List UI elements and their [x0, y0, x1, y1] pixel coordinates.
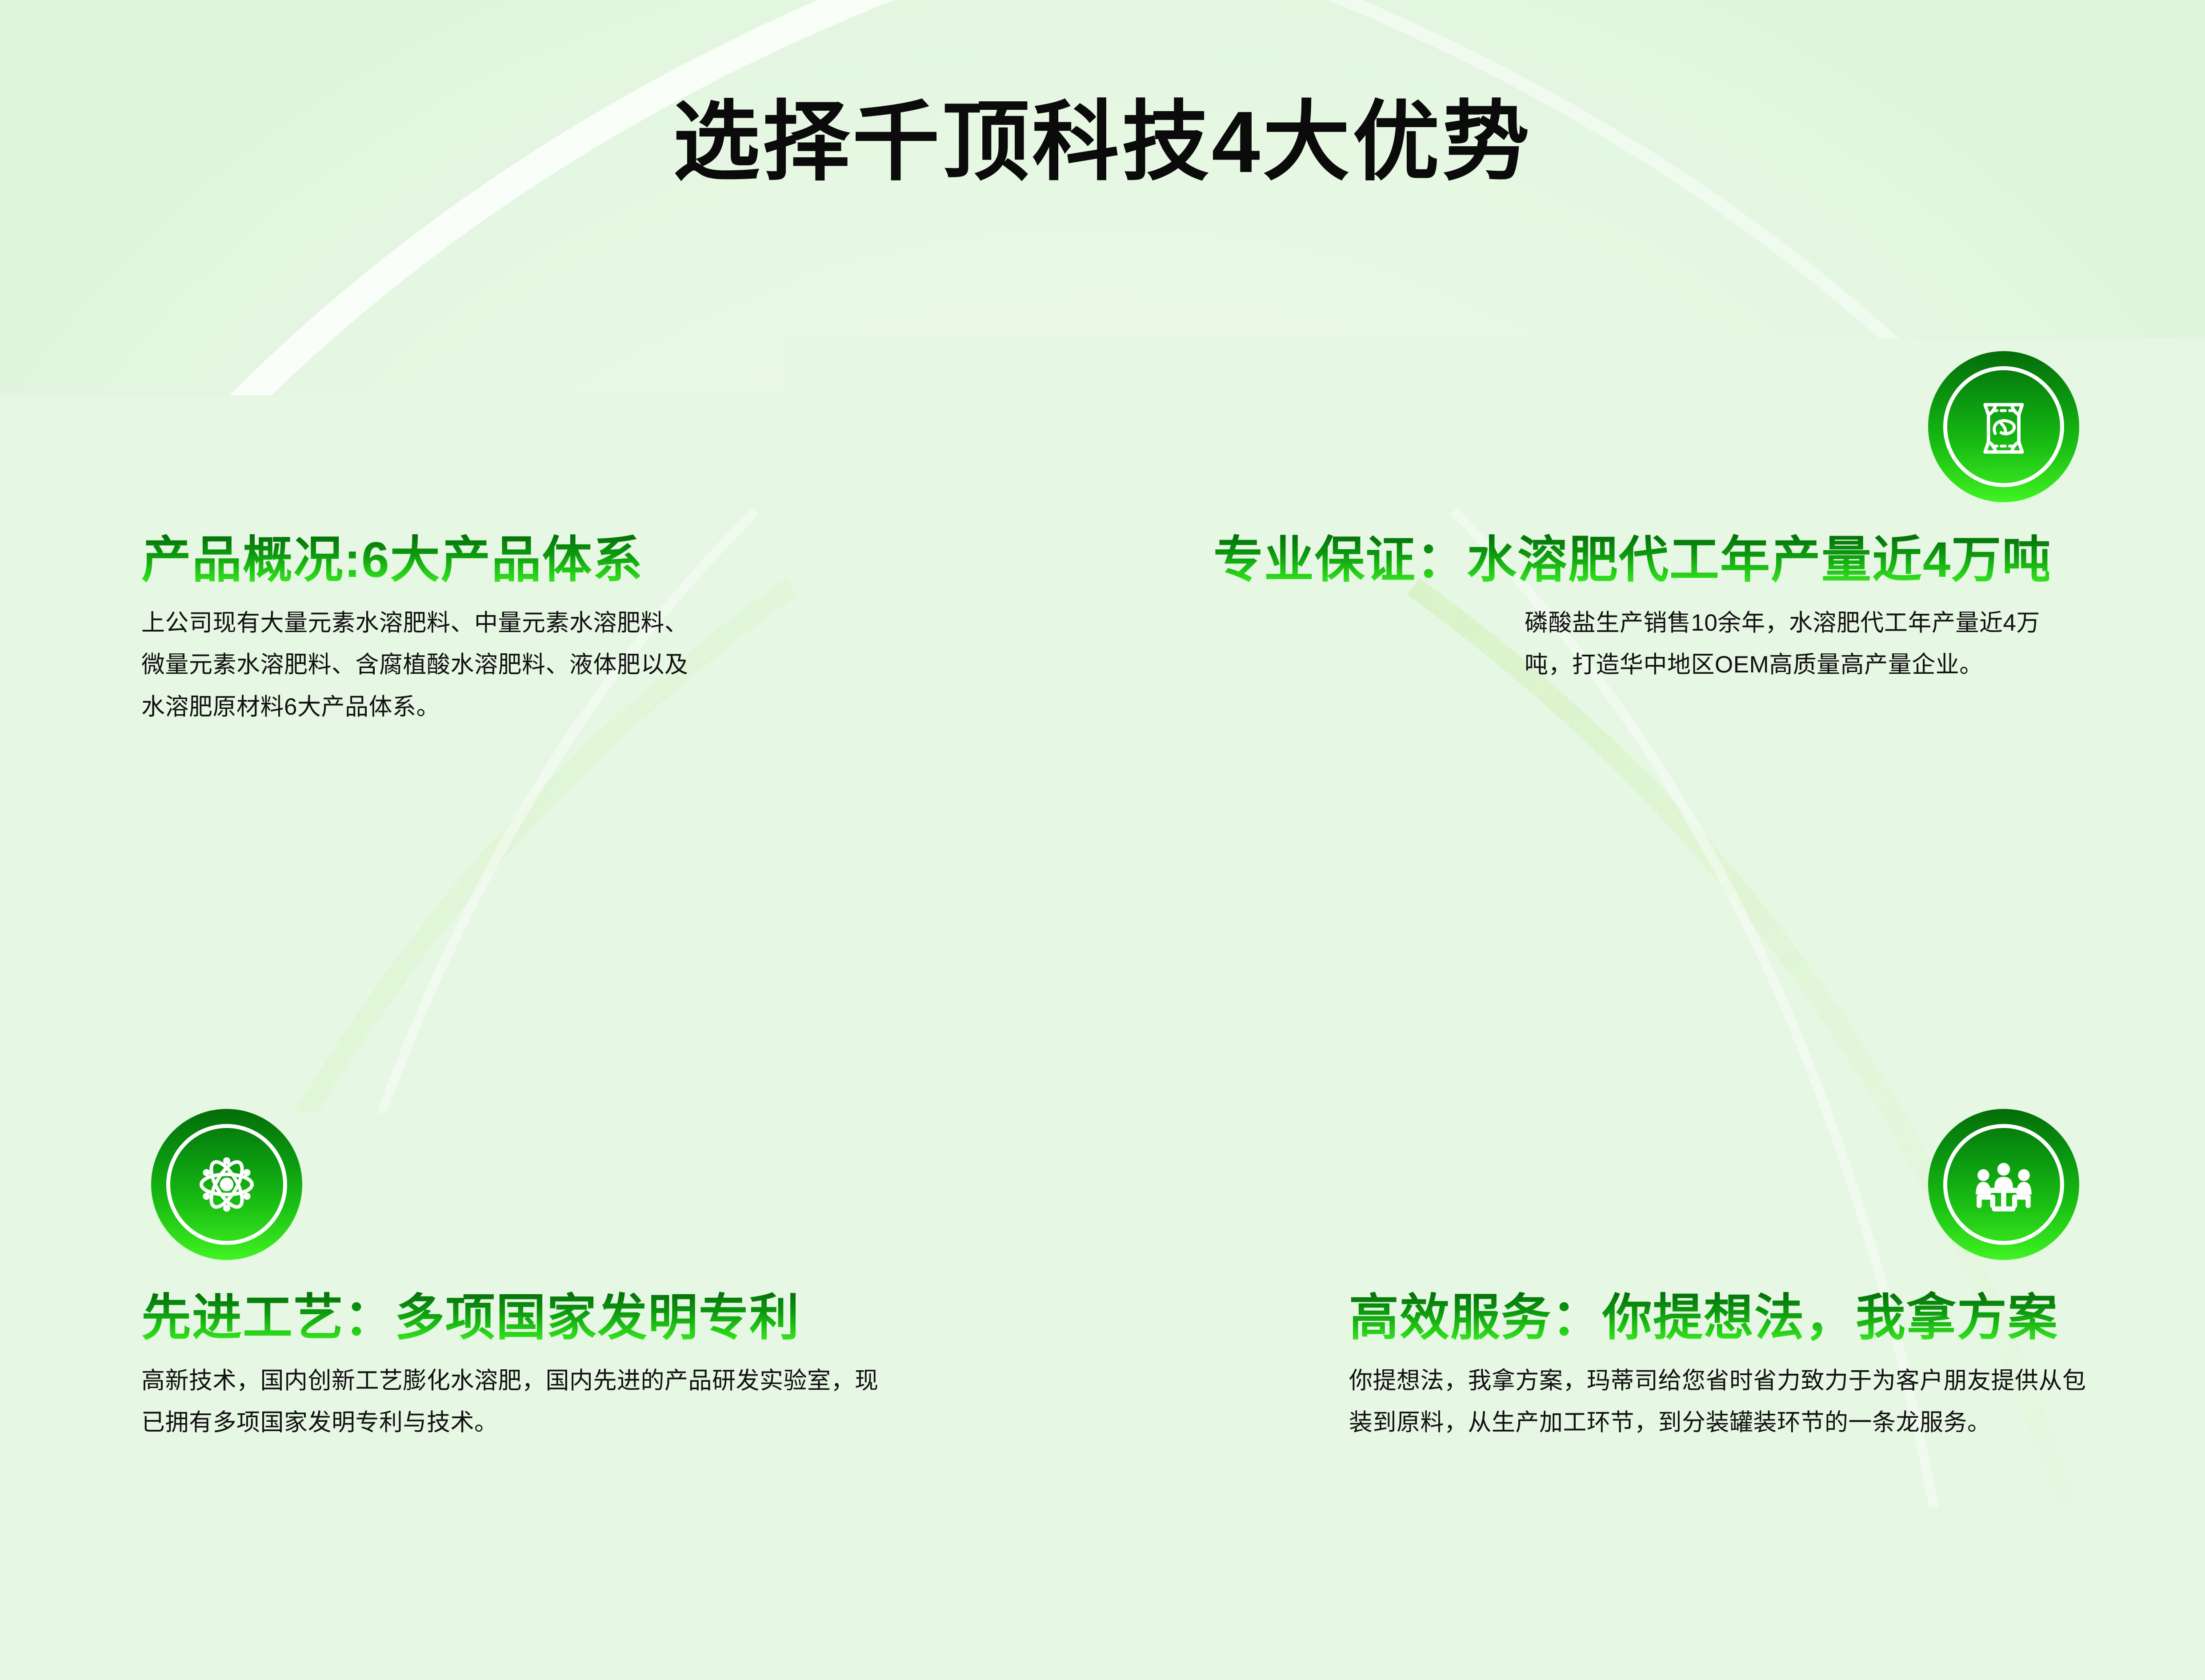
block-body: 上公司现有大量元素水溶肥料、中量元素水溶肥料、微量元素水溶肥料、含腐植酸水溶肥料… — [141, 602, 697, 728]
atom-icon — [184, 1142, 269, 1227]
icon-badge-product-overview — [151, 351, 302, 502]
block-efficient-service: 高效服务：你提想法，我拿方案 你提想法，我拿方案，玛蒂司给您省时省力致力于为客户… — [1349, 1291, 2105, 1444]
icon-badge-efficient-service — [1928, 1109, 2079, 1260]
block-product-overview: 产品概况:6大产品体系 上公司现有大量元素水溶肥料、中量元素水溶肥料、微量元素水… — [141, 533, 697, 728]
block-heading: 高效服务：你提想法，我拿方案 — [1349, 1291, 2105, 1345]
center-number-badge — [891, 630, 1318, 1057]
block-body: 你提想法，我拿方案，玛蒂司给您省时省力致力于为客户朋友提供从包装到原料，从生产加… — [1349, 1360, 2105, 1444]
block-heading: 先进工艺：多项国家发明专利 — [141, 1291, 897, 1345]
block-heading: 产品概况:6大产品体系 — [141, 533, 697, 587]
fertilizer-bag-icon — [1961, 384, 2046, 469]
block-heading: 专业保证：水溶肥代工年产量近4万吨 — [1213, 533, 2049, 587]
number-6-rings-icon — [184, 384, 269, 469]
icon-badge-professional-guarantee — [1928, 351, 2079, 502]
meeting-team-icon — [1961, 1142, 2046, 1227]
block-advanced-process: 先进工艺：多项国家发明专利 高新技术，国内创新工艺膨化水溶肥，国内先进的产品研发… — [141, 1291, 897, 1444]
circuit-number-4-icon — [967, 688, 1242, 999]
block-professional-guarantee: 专业保证：水溶肥代工年产量近4万吨 磷酸盐生产销售10余年，水溶肥代工年产量近4… — [1213, 533, 2049, 686]
icon-badge-advanced-process — [151, 1109, 302, 1260]
block-body: 高新技术，国内创新工艺膨化水溶肥，国内先进的产品研发实验室，现已拥有多项国家发明… — [141, 1360, 897, 1444]
block-body: 磷酸盐生产销售10余年，水溶肥代工年产量近4万吨，打造华中地区OEM高质量高产量… — [1525, 602, 2049, 686]
page-title: 选择千顶科技4大优势 — [0, 99, 2205, 186]
